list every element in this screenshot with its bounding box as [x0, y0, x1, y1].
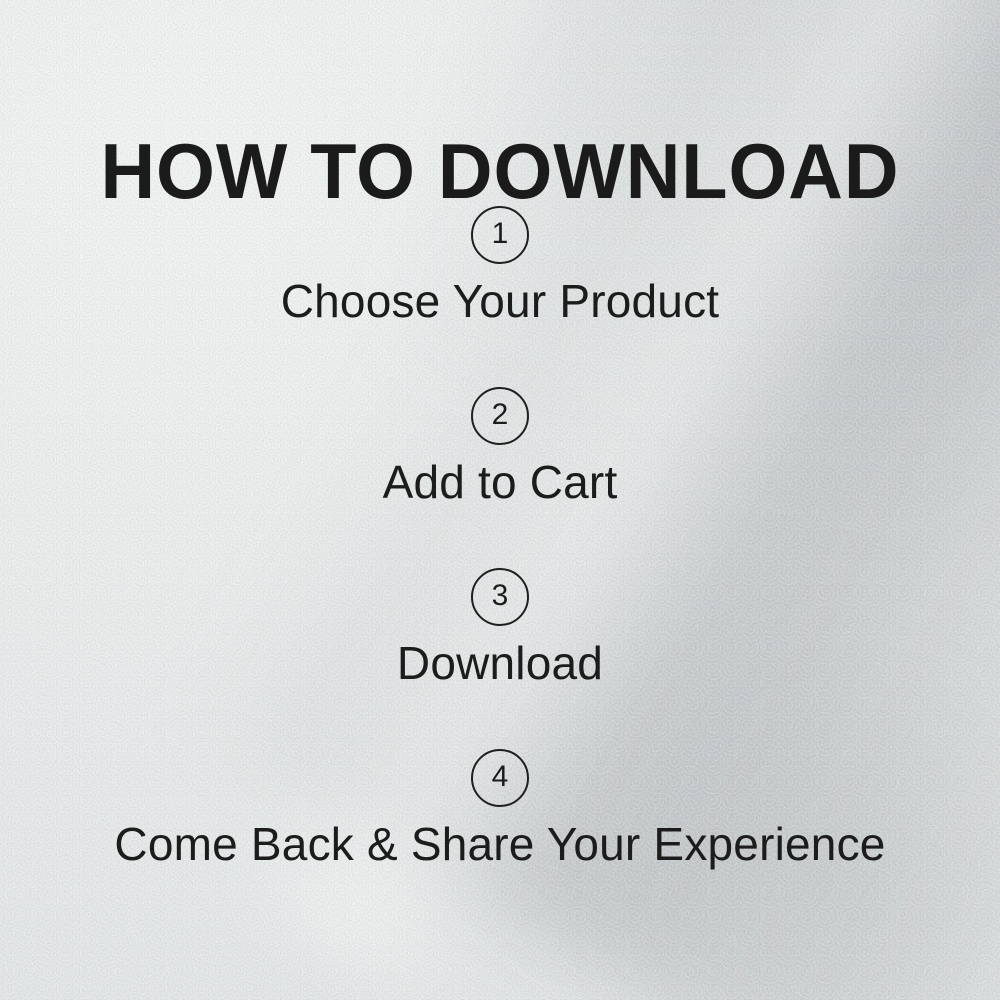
step-number-1: 1 — [492, 219, 509, 249]
step-number-2: 2 — [492, 400, 509, 430]
step-item-4: 4 Come Back & Share Your Experience — [0, 749, 1000, 930]
step-label-2: Add to Cart — [0, 455, 1000, 509]
step-item-3: 3 Download — [0, 568, 1000, 749]
poster-content: HOW TO DOWNLOAD 1 Choose Your Product 2 … — [0, 0, 1000, 1000]
step-number-badge-2: 2 — [471, 387, 529, 445]
step-item-2: 2 Add to Cart — [0, 387, 1000, 568]
how-to-download-poster: HOW TO DOWNLOAD 1 Choose Your Product 2 … — [0, 0, 1000, 1000]
step-number-3: 3 — [492, 581, 509, 611]
steps-list: 1 Choose Your Product 2 Add to Cart 3 Do… — [0, 206, 1000, 930]
step-label-3: Download — [0, 636, 1000, 690]
step-number-4: 4 — [492, 762, 509, 792]
step-label-4: Come Back & Share Your Experience — [0, 817, 1000, 871]
page-title: HOW TO DOWNLOAD — [15, 132, 985, 210]
step-number-badge-4: 4 — [471, 749, 529, 807]
step-number-badge-1: 1 — [471, 206, 529, 264]
step-label-1: Choose Your Product — [0, 274, 1000, 328]
step-item-1: 1 Choose Your Product — [0, 206, 1000, 387]
step-number-badge-3: 3 — [471, 568, 529, 626]
